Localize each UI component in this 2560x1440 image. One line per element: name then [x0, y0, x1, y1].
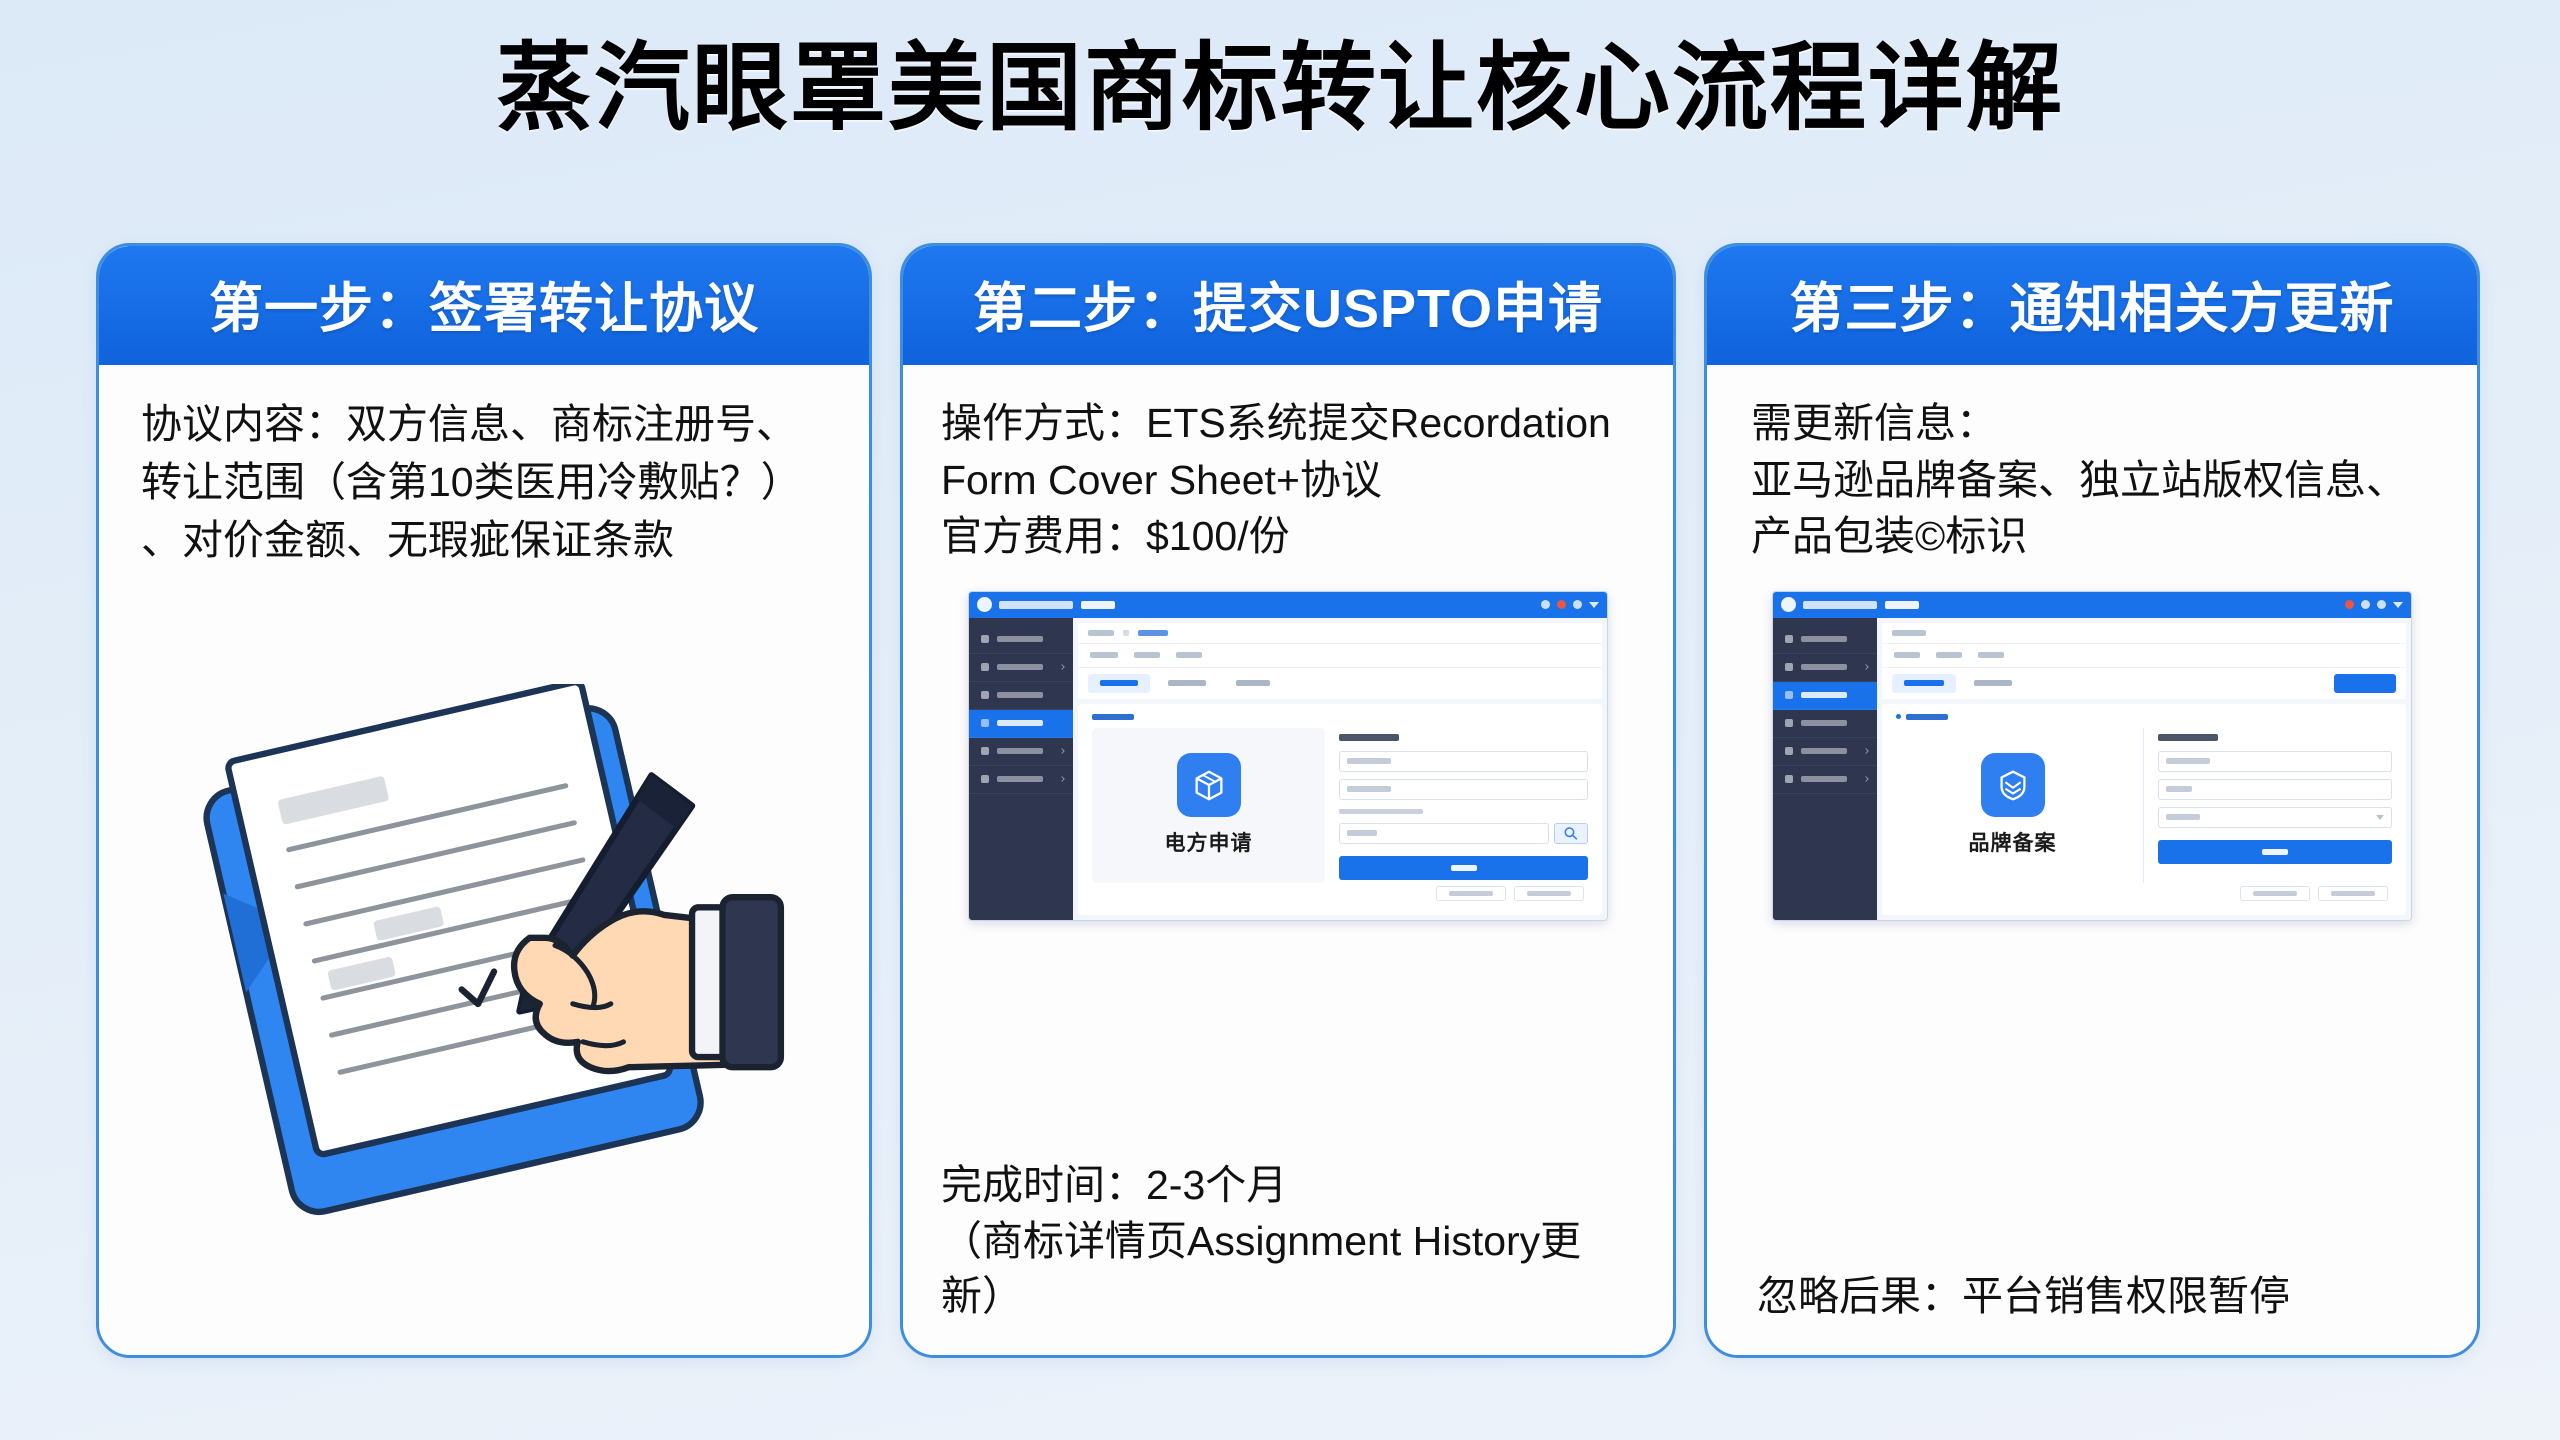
chevron-right-icon: [1059, 776, 1065, 782]
dashboard-icon: [1785, 635, 1793, 643]
mock-app-label: 电方申请: [1165, 827, 1253, 857]
gear-icon: [981, 775, 989, 783]
shield-envelope-icon: [1981, 753, 2045, 817]
application-icon: [981, 719, 989, 727]
notification-icon[interactable]: [1557, 600, 1566, 609]
chevron-right-icon: [1863, 748, 1869, 754]
footer-button-2[interactable]: [2318, 886, 2388, 901]
chevron-down-icon[interactable]: [1589, 602, 1599, 608]
message-icon[interactable]: [2361, 600, 2370, 609]
sidebar-item-4[interactable]: [1773, 710, 1877, 738]
subtab-1-active[interactable]: [1892, 674, 1956, 693]
panel-title: [1896, 714, 2392, 720]
subtab-3[interactable]: [1224, 674, 1282, 693]
sidebar-item-5[interactable]: [969, 738, 1073, 766]
form-field-1[interactable]: [1339, 751, 1588, 772]
step-card-2-body: 操作方式：ETS系统提交Recordation Form Cover Sheet…: [903, 365, 1673, 1355]
dashboard-icon: [981, 635, 989, 643]
captcha-image-icon[interactable]: [1554, 823, 1588, 844]
chevron-right-icon: [1059, 748, 1065, 754]
sidebar-item-1[interactable]: [1773, 626, 1877, 654]
brand-name-placeholder: [999, 601, 1073, 609]
brand-name-placeholder: [1803, 601, 1877, 609]
chevron-right-icon: [1863, 776, 1869, 782]
form-field-2[interactable]: [1339, 779, 1588, 800]
mock-main: 品牌备案: [1773, 618, 2411, 920]
step-card-1: 第一步：签署转让协议 协议内容：双方信息、商标注册号、转让范围（含第10类医用冷…: [96, 243, 872, 1358]
mock-app-window-3: 品牌备案: [1772, 591, 2412, 921]
breadcrumb: [1078, 623, 1602, 643]
sidebar-item-2[interactable]: [969, 654, 1073, 682]
primary-action-button[interactable]: [2334, 674, 2396, 693]
panel-footer: [1092, 883, 1588, 905]
ets-application-screenshot: 电方申请: [937, 565, 1639, 951]
page-title: 蒸汽眼罩美国商标转让核心流程详解: [0, 0, 2560, 142]
section-tabs: [1078, 643, 1602, 667]
sidebar-item-3-active[interactable]: [1773, 682, 1877, 710]
breadcrumb-separator: [1123, 630, 1129, 636]
step-card-2-text: 操作方式：ETS系统提交Recordation Form Cover Sheet…: [937, 395, 1639, 565]
brand-form: [2143, 728, 2392, 883]
user-icon[interactable]: [2377, 600, 2386, 609]
chevron-right-icon: [1059, 664, 1065, 670]
file-icon: [1785, 719, 1793, 727]
sidebar-item-6[interactable]: [969, 766, 1073, 794]
package-box-icon: [1177, 753, 1241, 817]
step-card-3: 第三步：通知相关方更新 需更新信息： 亚马逊品牌备案、独立站版权信息、产品包装©…: [1704, 243, 2480, 1358]
topbar-actions: [2345, 600, 2403, 609]
user-icon[interactable]: [1541, 600, 1550, 609]
form-title: [1339, 734, 1399, 741]
mock-topbar: [1773, 592, 2411, 618]
file-icon: [981, 691, 989, 699]
brand-suffix-placeholder: [1081, 601, 1115, 609]
sub-tabs: [1078, 667, 1602, 699]
mock-app-label: 品牌备案: [1969, 827, 2057, 857]
subtab-2[interactable]: [1962, 674, 2024, 693]
mock-app-window-2: 电方申请: [968, 591, 1608, 921]
panel-footer: [1896, 883, 2392, 905]
sidebar-item-3[interactable]: [969, 682, 1073, 710]
mock-sidebar: [1773, 618, 1877, 920]
sidebar-item-2[interactable]: [1773, 654, 1877, 682]
grid-icon: [1785, 747, 1793, 755]
mock-content: 电方申请: [1073, 618, 1607, 920]
form-field-2[interactable]: [2158, 779, 2392, 800]
step-card-2-footer: 完成时间：2-3个月 （商标详情页Assignment History更新）: [937, 1158, 1639, 1331]
chevron-down-icon: [2376, 815, 2384, 820]
notification-icon[interactable]: [2345, 600, 2354, 609]
gear-icon: [1785, 775, 1793, 783]
subtab-2[interactable]: [1156, 674, 1218, 693]
captcha-row: [1339, 823, 1588, 844]
tab-2[interactable]: [1134, 652, 1160, 658]
footer-button-1[interactable]: [2240, 886, 2310, 901]
app-logo-icon: [1781, 597, 1796, 612]
app-logo-icon: [977, 597, 992, 612]
application-type-tile[interactable]: 电方申请: [1092, 728, 1325, 883]
tab-1[interactable]: [1894, 652, 1920, 658]
step-card-3-text: 需更新信息： 亚马逊品牌备案、独立站版权信息、产品包装©标识: [1741, 395, 2443, 565]
bullet-icon: [1896, 714, 1901, 719]
step-card-1-header: 第一步：签署转让协议: [99, 246, 869, 365]
application-form: [1339, 728, 1588, 883]
step-card-1-body: 协议内容：双方信息、商标注册号、转让范围（含第10类医用冷敷贴？） 、对价金额、…: [99, 365, 869, 1355]
list-icon: [1785, 663, 1793, 671]
form-title: [2158, 734, 2218, 741]
step-card-1-text: 协议内容：双方信息、商标注册号、转让范围（含第10类医用冷敷贴？） 、对价金额、…: [133, 395, 835, 570]
section-tabs: [1882, 643, 2406, 667]
mock-content: 品牌备案: [1877, 618, 2411, 920]
sidebar-item-4-active[interactable]: [969, 710, 1073, 738]
form-hint: [1339, 809, 1423, 814]
panel-inner: 电方申请: [1092, 728, 1588, 883]
tab-3[interactable]: [1176, 652, 1202, 658]
step-card-2: 第二步：提交USPTO申请 操作方式：ETS系统提交Recordation Fo…: [900, 243, 1676, 1358]
mock-main: 电方申请: [969, 618, 1607, 920]
breadcrumb: [1882, 623, 2406, 643]
sidebar-item-6[interactable]: [1773, 766, 1877, 794]
application-panel: 电方申请: [1078, 704, 1602, 915]
submit-button[interactable]: [1339, 856, 1588, 880]
step-card-3-body: 需更新信息： 亚马逊品牌备案、独立站版权信息、产品包装©标识: [1707, 365, 2477, 1355]
grid-icon: [981, 747, 989, 755]
brand-registry-screenshot: 品牌备案: [1741, 565, 2443, 951]
step-card-3-header: 第三步：通知相关方更新: [1707, 246, 2477, 365]
panel-inner: 品牌备案: [1896, 728, 2392, 883]
topbar-actions: [1541, 600, 1599, 609]
sub-tabs: [1882, 667, 2406, 699]
hand-signing-document-illustration: [133, 570, 835, 1331]
chevron-right-icon: [1863, 664, 1869, 670]
form-field-3-select[interactable]: [2158, 807, 2392, 828]
brand-suffix-placeholder: [1885, 601, 1919, 609]
footer-button-1[interactable]: [1436, 886, 1506, 901]
submit-button[interactable]: [2158, 840, 2392, 864]
panel-title: [1092, 714, 1588, 720]
sidebar-item-5[interactable]: [1773, 738, 1877, 766]
tab-1[interactable]: [1090, 652, 1118, 658]
mock-sidebar: [969, 618, 1073, 920]
captcha-input[interactable]: [1339, 823, 1549, 844]
settings-icon[interactable]: [1573, 600, 1582, 609]
subtab-1-active[interactable]: [1088, 674, 1150, 693]
mock-topbar: [969, 592, 1607, 618]
step-card-3-footer: 忽略后果：平台销售权限暂停: [1741, 1269, 2443, 1331]
chevron-down-icon[interactable]: [2393, 602, 2403, 608]
sidebar-item-1[interactable]: [969, 626, 1073, 654]
tab-2[interactable]: [1936, 652, 1962, 658]
tab-3[interactable]: [1978, 652, 2004, 658]
form-field-1[interactable]: [2158, 751, 2392, 772]
footer-button-2[interactable]: [1514, 886, 1584, 901]
brand-registry-tile[interactable]: 品牌备案: [1896, 728, 2129, 883]
brand-icon: [1785, 691, 1793, 699]
step-card-2-header: 第二步：提交USPTO申请: [903, 246, 1673, 365]
step-cards-row: 第一步：签署转让协议 协议内容：双方信息、商标注册号、转让范围（含第10类医用冷…: [96, 243, 2480, 1358]
list-icon: [981, 663, 989, 671]
brand-panel: 品牌备案: [1882, 704, 2406, 915]
